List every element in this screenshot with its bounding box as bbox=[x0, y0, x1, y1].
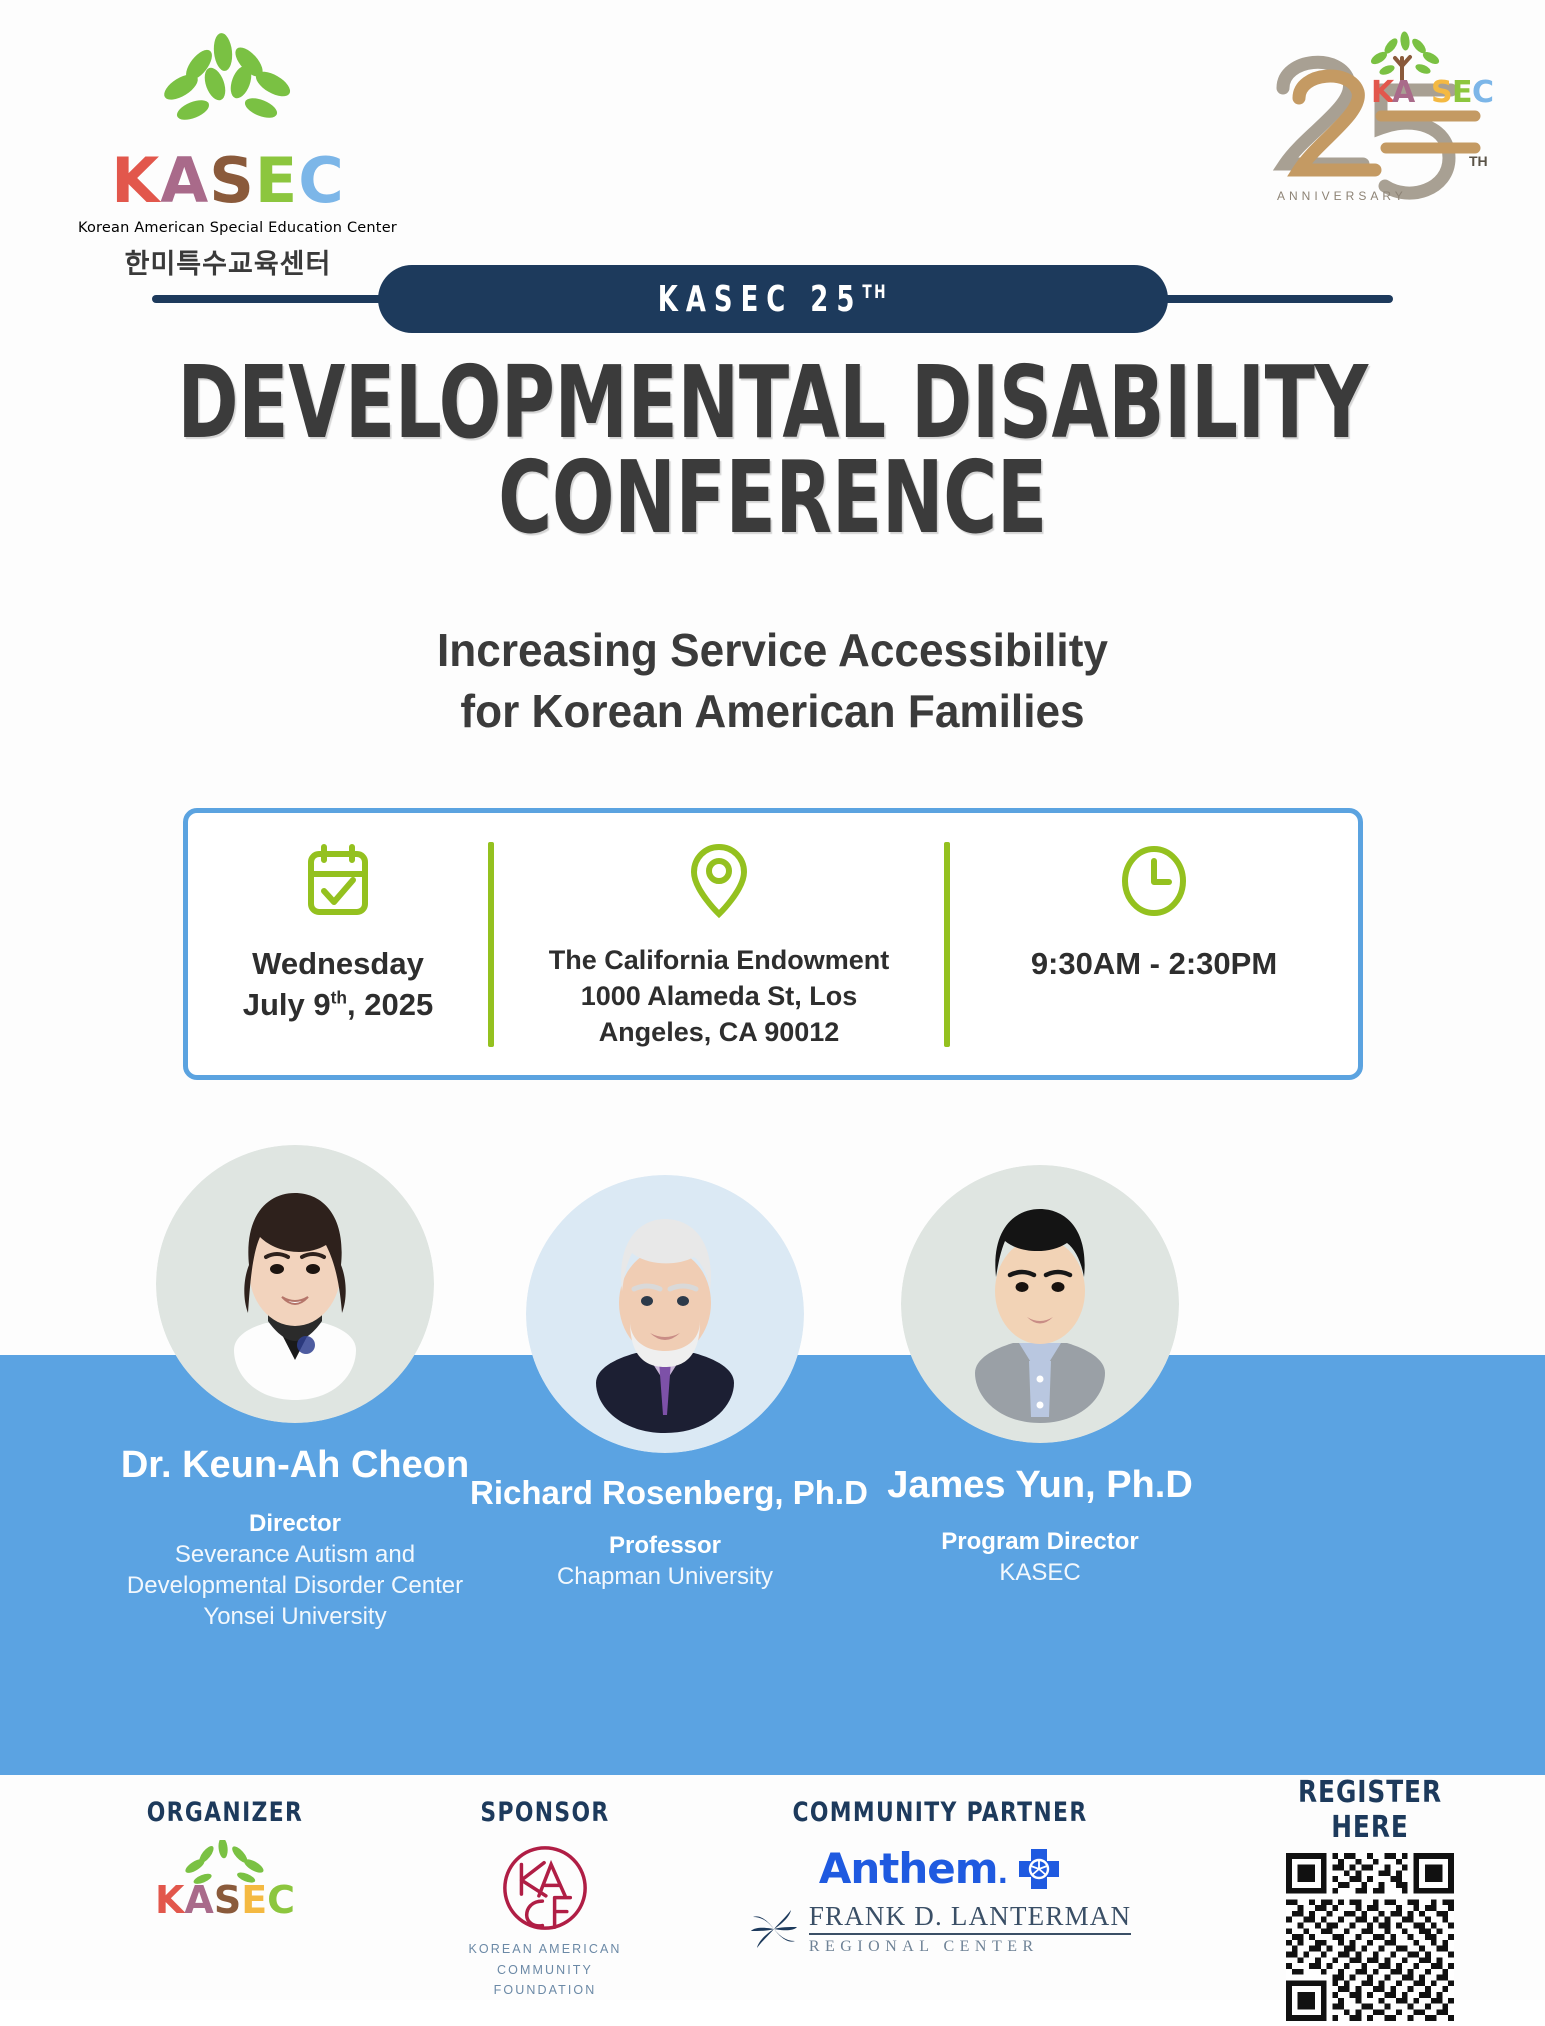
anniversary-word: ANNIVERSARY bbox=[1277, 189, 1407, 203]
info-time: 9:30AM - 2:30PM bbox=[950, 813, 1358, 1075]
qr-code[interactable] bbox=[1286, 1853, 1454, 2021]
info-location: The California Endowment 1000 Alameda St… bbox=[494, 813, 944, 1075]
speaker-org-line: Developmental Disorder Center bbox=[100, 1570, 490, 1601]
register-heading: REGISTER HERE bbox=[1255, 1775, 1485, 1845]
footer-community-partner: COMMUNITY PARTNER Anthem. bbox=[730, 1797, 1150, 1955]
banner-text: KASEC 25 bbox=[657, 279, 862, 320]
kasec-25th-banner: KASEC 25TH bbox=[378, 265, 1168, 333]
svg-text:E: E bbox=[1452, 75, 1473, 110]
speaker-card: Dr. Keun-Ah Cheon Director Severance Aut… bbox=[100, 1145, 490, 1632]
speaker-role: Director bbox=[100, 1509, 490, 1539]
avatar bbox=[526, 1175, 804, 1453]
anniversary-logo: K A S E C TH ANNIVERSARY bbox=[1263, 30, 1493, 220]
footer: ORGANIZER KASEC bbox=[0, 1775, 1545, 2000]
avatar bbox=[156, 1145, 434, 1423]
lanterman-logo: FRANK D. LANTERMAN REGIONAL CENTER bbox=[730, 1903, 1150, 1955]
title-line-1: DEVELOPMENTAL DISABILITY bbox=[139, 355, 1406, 450]
kasec-mini-logo: KASEC bbox=[135, 1844, 315, 1924]
page-subtitle: Increasing Service Accessibility for Kor… bbox=[31, 620, 1514, 741]
footer-register: REGISTER HERE bbox=[1245, 1775, 1495, 2021]
speaker-card: James Yun, Ph.D Program Director KASEC bbox=[845, 1165, 1235, 1588]
blue-cross-icon bbox=[1017, 1847, 1061, 1891]
anthem-wordmark: Anthem. bbox=[819, 1844, 1007, 1893]
speaker-role: Professor bbox=[470, 1531, 860, 1561]
kacf-sub-line-2: COMMUNITY FOUNDATION bbox=[455, 1961, 635, 2000]
speaker-org-line: Yonsei University bbox=[100, 1601, 490, 1632]
location-line-2: 1000 Alameda St, Los bbox=[549, 979, 890, 1015]
location-line-1: The California Endowment bbox=[549, 943, 890, 979]
banner-rule-left bbox=[152, 295, 402, 303]
pinwheel-icon bbox=[749, 1907, 799, 1951]
avatar bbox=[901, 1165, 1179, 1443]
speaker-org-line: Chapman University bbox=[470, 1561, 860, 1592]
anniversary-superscript: TH bbox=[1469, 153, 1488, 169]
anniversary-25-icon: K A S E C TH ANNIVERSARY bbox=[1263, 30, 1493, 220]
speaker-name: Richard Rosenberg, Ph.D bbox=[470, 1475, 860, 1511]
banner-superscript: TH bbox=[862, 281, 888, 303]
kacf-mark-icon bbox=[497, 1840, 593, 1936]
info-date-text: Wednesday July 9th, 2025 bbox=[243, 943, 433, 1025]
tree-icon bbox=[153, 32, 303, 162]
subtitle-line-2: for Korean American Families bbox=[31, 681, 1514, 742]
conference-poster: KASEC Korean American Special Education … bbox=[0, 0, 1545, 2000]
date-line-2: July 9th, 2025 bbox=[243, 984, 433, 1025]
page-title: DEVELOPMENTAL DISABILITY CONFERENCE bbox=[0, 355, 1545, 545]
community-partner-heading: COMMUNITY PARTNER bbox=[751, 1797, 1129, 1828]
lanterman-text: FRANK D. LANTERMAN REGIONAL CENTER bbox=[809, 1903, 1131, 1955]
kacf-sub-line-1: KOREAN AMERICAN bbox=[455, 1940, 635, 1959]
speaker-name: James Yun, Ph.D bbox=[845, 1465, 1235, 1507]
footer-sponsor: SPONSOR KOREAN AMERICAN COMMUNITY FOUNDA… bbox=[415, 1797, 675, 2000]
svg-text:C: C bbox=[1472, 75, 1493, 110]
speaker-org-line: Severance Autism and bbox=[100, 1539, 490, 1570]
lanterman-line-2: REGIONAL CENTER bbox=[809, 1939, 1131, 1955]
time-line-1: 9:30AM - 2:30PM bbox=[1031, 943, 1277, 984]
info-time-text: 9:30AM - 2:30PM bbox=[1031, 943, 1277, 984]
footer-organizer: ORGANIZER KASEC bbox=[95, 1797, 355, 1924]
svg-text:S: S bbox=[1431, 75, 1453, 110]
date-line-1: Wednesday bbox=[243, 943, 433, 984]
speakers-section: Dr. Keun-Ah Cheon Director Severance Aut… bbox=[0, 1145, 1545, 1785]
svg-text:A: A bbox=[1392, 75, 1416, 110]
sponsor-heading: SPONSOR bbox=[428, 1797, 662, 1828]
speaker-card: Richard Rosenberg, Ph.D Professor Chapma… bbox=[470, 1175, 860, 1592]
calendar-check-icon bbox=[305, 837, 371, 925]
kasec-tagline: Korean American Special Education Center bbox=[78, 220, 378, 236]
kasec-logo: KASEC Korean American Special Education … bbox=[78, 32, 378, 252]
speaker-name: Dr. Keun-Ah Cheon bbox=[100, 1445, 490, 1487]
kasec-wordmark: KASEC bbox=[78, 150, 378, 212]
banner-rule-right bbox=[1143, 295, 1393, 303]
info-location-text: The California Endowment 1000 Alameda St… bbox=[549, 943, 890, 1051]
info-date: Wednesday July 9th, 2025 bbox=[188, 813, 488, 1075]
anthem-logo: Anthem. bbox=[730, 1844, 1150, 1893]
kacf-logo: KOREAN AMERICAN COMMUNITY FOUNDATION bbox=[455, 1840, 635, 2000]
location-line-3: Angeles, CA 90012 bbox=[549, 1015, 890, 1051]
title-line-2: CONFERENCE bbox=[139, 450, 1406, 545]
event-info-box: Wednesday July 9th, 2025 The California … bbox=[183, 808, 1363, 1080]
speaker-org-line: KASEC bbox=[845, 1557, 1235, 1588]
subtitle-line-1: Increasing Service Accessibility bbox=[31, 620, 1514, 681]
banner-row: KASEC 25TH bbox=[0, 265, 1545, 335]
map-pin-icon bbox=[688, 837, 750, 925]
kasec-mini-wordmark: KASEC bbox=[135, 1878, 315, 1922]
organizer-heading: ORGANIZER bbox=[108, 1797, 342, 1828]
clock-icon bbox=[1119, 837, 1189, 925]
lanterman-line-1: FRANK D. LANTERMAN bbox=[809, 1903, 1131, 1935]
speaker-role: Program Director bbox=[845, 1527, 1235, 1557]
